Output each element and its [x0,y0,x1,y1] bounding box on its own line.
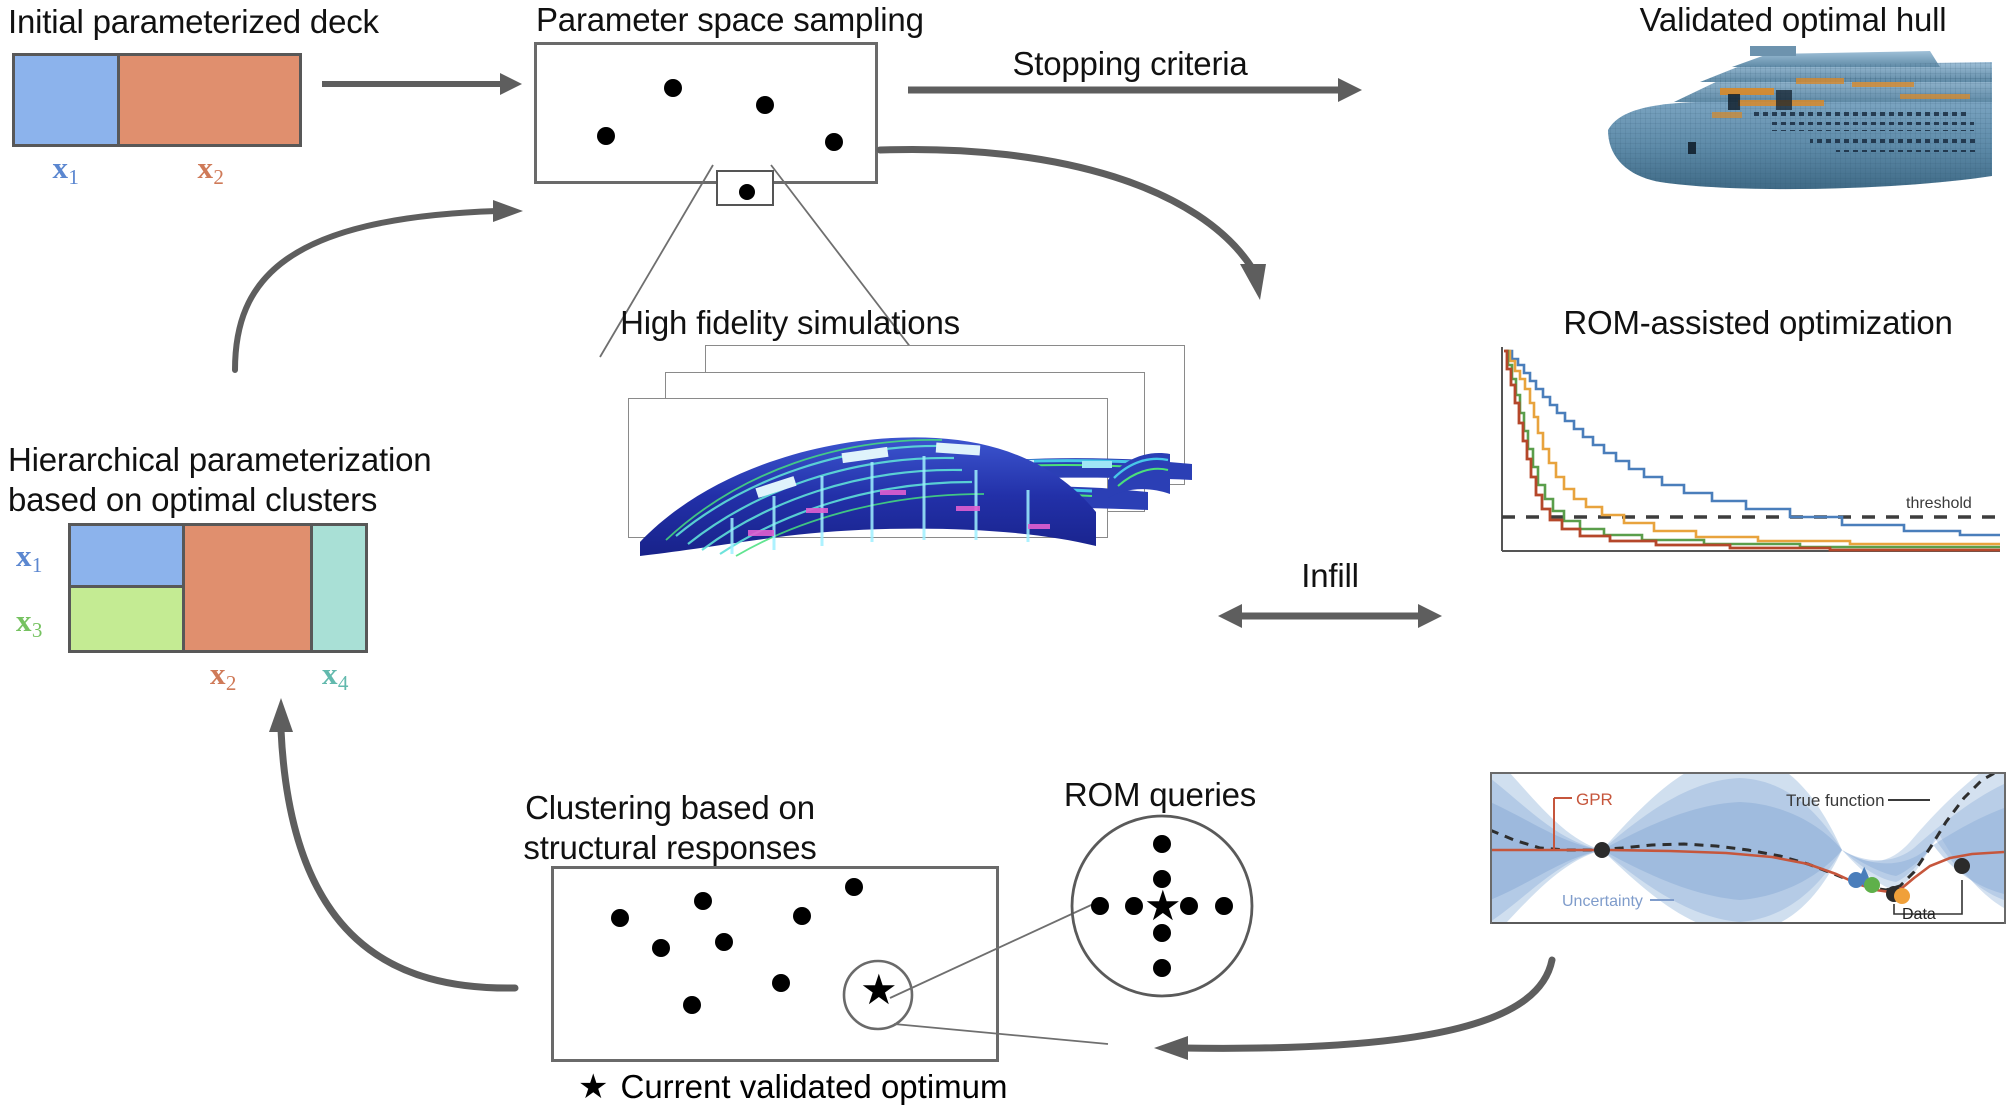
hierarchical-segment-x1 [71,526,182,588]
legend-star-icon: ★ [578,1070,608,1104]
simulation-contour-front [636,420,1100,560]
gpr-annotation-label: GPR [1576,790,1613,809]
hierarchical-title-line2: based on optimal clusters [8,480,376,520]
hierarchical-label-x2: x2 [188,656,258,692]
rom-query-point [1091,897,1109,915]
cluster-point [845,878,863,896]
arrow-parameter-space-to-rom [880,128,1300,308]
rom-optimization-title: ROM-assisted optimization [1510,303,2006,343]
sample-point [756,96,774,114]
hierarchical-label-x3: x3 [16,603,42,639]
arrow-deck-to-parameter-space [322,68,522,100]
hierarchical-segment-x2 [185,526,313,650]
sample-point [597,127,615,145]
arrow-infill-double [1218,600,1442,632]
diagram-canvas: Initial parameterized deck x1 x2 Paramet… [0,0,2006,1109]
hierarchical-label-x1: x1 [16,538,42,574]
cluster-point [652,939,670,957]
rom-query-point [1215,897,1233,915]
hierarchical-title-line1: Hierarchical parameterization [8,440,376,480]
high-fidelity-title: High fidelity simulations [600,303,980,343]
validated-hull-image [1600,38,2000,203]
parameter-space-panel [534,42,878,184]
gpr-data-point [1954,858,1970,874]
hierarchical-segment-x3 [71,588,182,650]
sample-point [825,133,843,151]
rom-convergence-chart[interactable]: threshold [1490,345,2006,565]
cluster-point [611,909,629,927]
rom-query-point [1125,897,1143,915]
sample-point [664,79,682,97]
hierarchical-deck-diagram [68,523,368,653]
gpr-data-point [1594,842,1610,858]
initial-deck-label-x1: x1 [12,150,119,186]
arrow-hierarchical-to-parameter-space [225,130,525,370]
legend-label: Current validated optimum [620,1068,1007,1106]
gpr-uncertainty-chart[interactable]: GPR True function Uncertainty Data [1490,772,2006,934]
threshold-label: threshold [1906,495,1972,512]
parameter-space-title: Parameter space sampling [536,0,884,40]
infill-label: Infill [1185,556,1475,596]
data-annotation-label: Data [1902,906,1936,923]
cluster-point [715,933,733,951]
rom-queries-title: ROM queries [1012,775,1308,815]
cluster-point [793,907,811,925]
rom-query-point [1153,959,1171,977]
initial-deck-title: Initial parameterized deck [8,2,379,42]
hierarchical-label-x4: x4 [300,656,370,692]
clustering-legend: ★ Current validated optimum [578,1068,1008,1106]
rom-queries-points: ★ [1068,812,1256,1000]
arrow-stopping-criteria [908,74,1362,106]
deck-segment-x1 [15,56,120,144]
cluster-point [694,892,712,910]
uncertainty-annotation-label: Uncertainty [1562,893,1643,910]
arrow-clustering-to-hierarchical [185,690,585,1030]
cluster-point [683,996,701,1014]
rom-queries-center-star-icon: ★ [1144,885,1182,927]
simulation-contour-side-tail [1108,440,1172,506]
cluster-point [772,974,790,992]
rom-query-point [1180,897,1198,915]
rom-query-point [1153,835,1171,853]
validated-hull-title: Validated optimal hull [1580,0,2006,40]
hierarchical-segment-x4 [313,526,365,650]
true-function-annotation-label: True function [1786,791,1885,810]
